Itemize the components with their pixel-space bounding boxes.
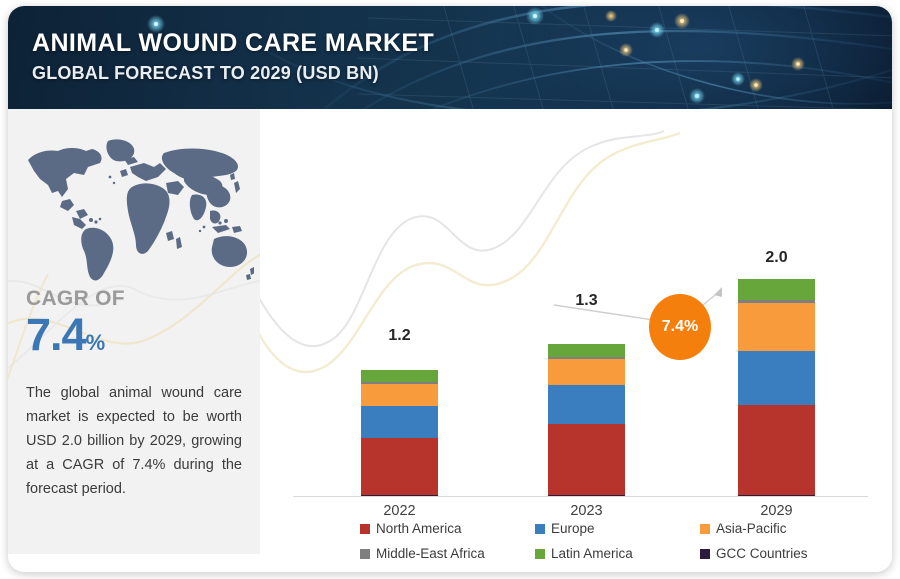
legend-label: Europe (551, 521, 595, 536)
legend-item-europe[interactable]: Europe (535, 521, 700, 536)
chart-legend: North America Europe Asia-Pacific Middle… (360, 521, 860, 561)
cagr-block: CAGR OF 7.4% (26, 287, 125, 367)
legend-label: North America (376, 521, 462, 536)
legend-item-north-america[interactable]: North America (360, 521, 535, 536)
legend-item-gcc-countries[interactable]: GCC Countries (700, 546, 860, 561)
sidebar-panel: CAGR OF 7.4% The global animal wound car… (8, 109, 260, 554)
legend-swatch-icon (700, 549, 710, 559)
legend-swatch-icon (360, 549, 370, 559)
legend-item-asia-pacific[interactable]: Asia-Pacific (700, 521, 860, 536)
cagr-percent-sign: % (86, 330, 106, 355)
cagr-value: 7.4% (26, 311, 125, 367)
legend-item-middle-east-africa[interactable]: Middle-East Africa (360, 546, 535, 561)
legend-swatch-icon (535, 549, 545, 559)
page-subtitle: GLOBAL FORECAST TO 2029 (USD BN) (32, 61, 434, 85)
legend-swatch-icon (360, 524, 370, 534)
legend-label: GCC Countries (716, 546, 808, 561)
infographic-card: ANIMAL WOUND CARE MARKET GLOBAL FORECAST… (8, 6, 892, 572)
legend-label: Asia-Pacific (716, 521, 787, 536)
chart-panel: 1.2 2022 1.3 2023 2.0 (260, 109, 892, 572)
legend-swatch-icon (700, 524, 710, 534)
legend-label: Latin America (551, 546, 633, 561)
legend-label: Middle-East Africa (376, 546, 485, 561)
plot-area: 1.2 2022 1.3 2023 2.0 (260, 109, 892, 509)
legend-swatch-icon (535, 524, 545, 534)
header-banner: ANIMAL WOUND CARE MARKET GLOBAL FORECAST… (8, 6, 892, 109)
cagr-bubble-callout[interactable]: 7.4% (649, 294, 711, 360)
cagr-leader-arrow (260, 109, 892, 509)
legend-item-latin-america[interactable]: Latin America (535, 546, 700, 561)
page-title: ANIMAL WOUND CARE MARKET (32, 28, 434, 58)
world-map-icon (14, 127, 254, 292)
cagr-number: 7.4 (26, 309, 86, 360)
cagr-label: CAGR OF (26, 287, 125, 311)
market-description: The global animal wound care market is e… (26, 381, 242, 501)
